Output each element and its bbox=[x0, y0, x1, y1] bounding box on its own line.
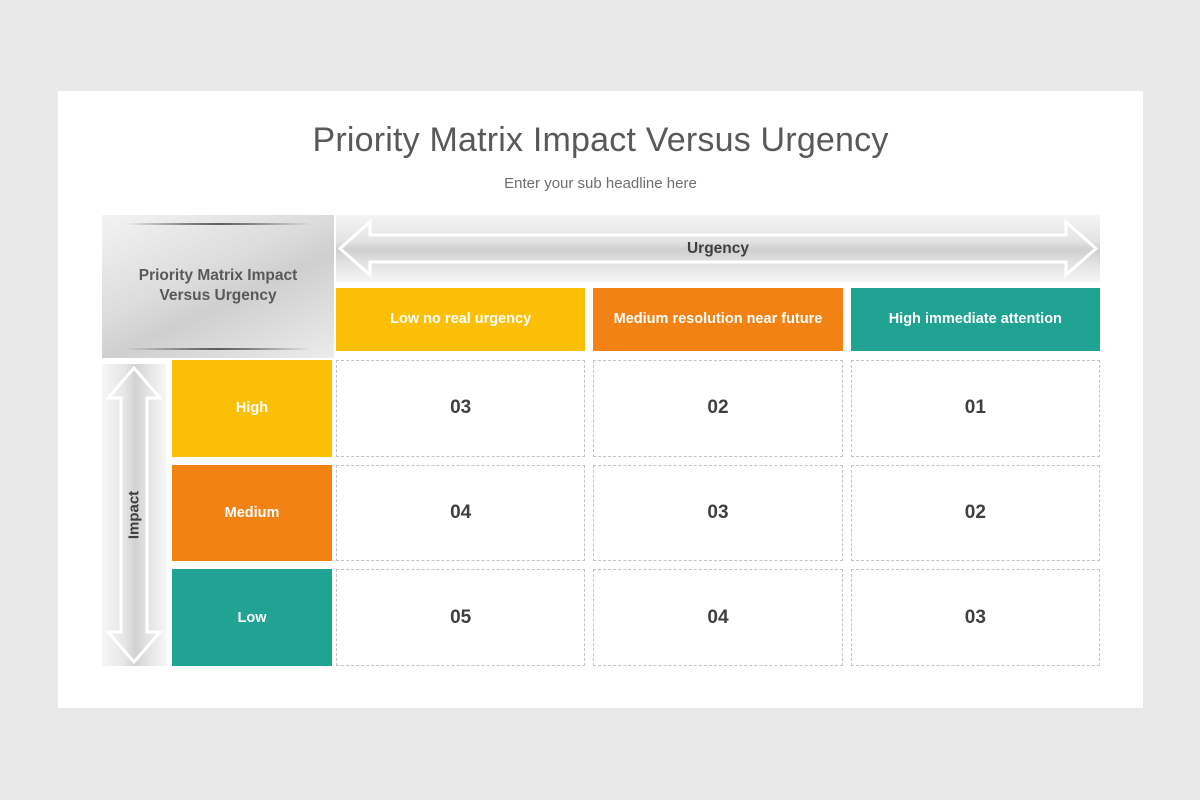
matrix-corner-box: Priority Matrix Impact Versus Urgency bbox=[102, 215, 334, 358]
matrix-row-medium: 04 03 02 bbox=[336, 465, 1100, 562]
matrix-row-high: 03 02 01 bbox=[336, 360, 1100, 457]
column-header-high[interactable]: High immediate attention bbox=[851, 288, 1100, 351]
matrix-cell-low-medium[interactable]: 04 bbox=[593, 569, 842, 666]
page-title: Priority Matrix Impact Versus Urgency bbox=[58, 121, 1143, 160]
matrix-corner-label: Priority Matrix Impact Versus Urgency bbox=[116, 266, 320, 308]
column-header-high-label: High immediate attention bbox=[889, 310, 1062, 328]
row-label-high-text: High bbox=[236, 400, 268, 416]
page-subtitle: Enter your sub headline here bbox=[58, 175, 1143, 192]
urgency-axis-band: Urgency bbox=[336, 215, 1100, 282]
row-label-medium[interactable]: Medium bbox=[172, 465, 332, 562]
sheen-line-bottom-decoration bbox=[125, 348, 311, 350]
matrix-row-low: 05 04 03 bbox=[336, 569, 1100, 666]
matrix-cell-medium-low[interactable]: 04 bbox=[336, 465, 585, 562]
column-header-row: Low no real urgency Medium resolution ne… bbox=[336, 288, 1100, 351]
column-header-low[interactable]: Low no real urgency bbox=[336, 288, 585, 351]
sheen-line-top-decoration bbox=[125, 223, 311, 225]
row-label-high[interactable]: High bbox=[172, 360, 332, 457]
matrix-cell-high-high[interactable]: 01 bbox=[851, 360, 1100, 457]
impact-axis-label: Impact bbox=[126, 491, 143, 539]
matrix-cell-low-low[interactable]: 05 bbox=[336, 569, 585, 666]
row-label-low-text: Low bbox=[238, 610, 267, 626]
matrix-cell-high-low[interactable]: 03 bbox=[336, 360, 585, 457]
slide-card: Priority Matrix Impact Versus Urgency En… bbox=[58, 91, 1143, 708]
matrix-cell-high-medium[interactable]: 02 bbox=[593, 360, 842, 457]
urgency-axis-label: Urgency bbox=[687, 240, 749, 258]
matrix-grid: 03 02 01 04 03 02 05 04 03 bbox=[336, 360, 1100, 666]
column-header-medium-label: Medium resolution near future bbox=[614, 310, 823, 328]
column-header-medium[interactable]: Medium resolution near future bbox=[593, 288, 842, 351]
matrix-cell-medium-medium[interactable]: 03 bbox=[593, 465, 842, 562]
row-label-medium-text: Medium bbox=[225, 505, 280, 521]
row-label-column: High Medium Low bbox=[172, 360, 332, 666]
row-label-low[interactable]: Low bbox=[172, 569, 332, 666]
matrix-cell-low-high[interactable]: 03 bbox=[851, 569, 1100, 666]
column-header-low-label: Low no real urgency bbox=[390, 310, 531, 328]
priority-matrix: Priority Matrix Impact Versus Urgency Ur… bbox=[102, 215, 1100, 666]
impact-axis-band: Impact bbox=[102, 364, 166, 666]
matrix-cell-medium-high[interactable]: 02 bbox=[851, 465, 1100, 562]
